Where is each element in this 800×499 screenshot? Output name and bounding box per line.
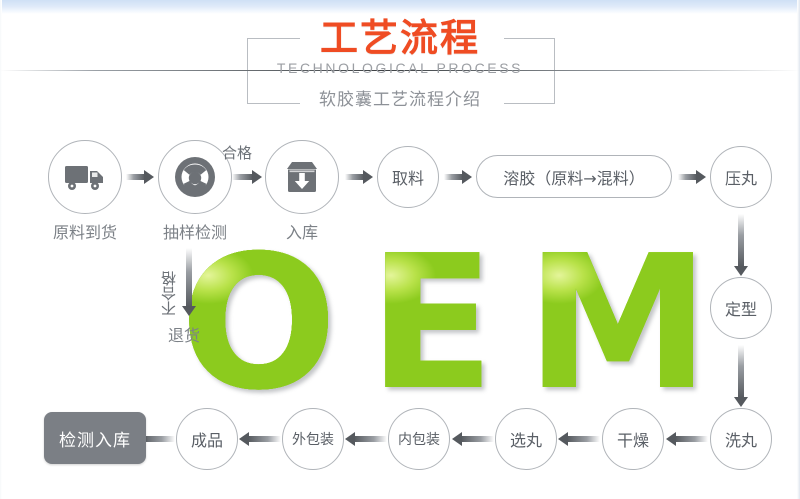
node-gel-melting[interactable]: 溶胶（原料→混料） <box>476 155 672 198</box>
node-finished-product[interactable]: 成品 <box>176 408 238 470</box>
node-sampling-inspection[interactable] <box>158 140 232 214</box>
arrow-shaping-to-washing <box>734 345 748 407</box>
oem-letter-m: M <box>526 238 710 408</box>
node-finished-product-label: 成品 <box>191 427 223 451</box>
arrow-warehouse-to-take-material <box>345 170 373 184</box>
arrow-inner-to-outer-packaging <box>345 432 387 446</box>
node-pill-washing[interactable]: 洗丸 <box>710 408 772 470</box>
node-drying-label: 干燥 <box>617 427 649 451</box>
node-return-goods[interactable]: 退货 <box>148 322 220 346</box>
arrow-inspection-to-warehouse <box>232 170 262 184</box>
arrow-inspection-to-return <box>182 248 196 316</box>
node-pill-pressing[interactable]: 压丸 <box>710 146 772 208</box>
process-flow-poster: 工艺流程 TECHNOLOGICAL PROCESS 软胶囊工艺流程介绍 O E… <box>0 0 800 499</box>
caption-warehouse-in: 入库 <box>250 219 354 243</box>
arrow-gel-to-pill-pressing <box>678 170 706 184</box>
node-pill-pressing-label: 压丸 <box>725 165 757 189</box>
node-outer-packaging-label: 外包装 <box>292 429 334 449</box>
caption-sampling-inspection: 抽样检测 <box>143 219 247 243</box>
arrow-pill-pressing-to-shaping <box>734 214 748 276</box>
node-outer-packaging[interactable]: 外包装 <box>282 408 344 470</box>
node-inspect-and-store[interactable]: 检测入库 <box>44 412 146 464</box>
edge-label-fail: 不合格 <box>158 252 179 316</box>
node-gel-melting-label: 溶胶（原料→混料） <box>503 165 644 189</box>
node-pill-selection[interactable]: 选丸 <box>495 408 557 470</box>
arrow-washing-to-drying <box>666 432 708 446</box>
node-warehouse-in[interactable] <box>265 140 339 214</box>
page-title: 工艺流程 <box>0 18 800 58</box>
inspection-icon <box>172 154 218 200</box>
node-raw-material-arrival[interactable] <box>48 140 122 214</box>
page-subtitle: 软胶囊工艺流程介绍 <box>0 85 800 110</box>
caption-raw-material-arrival: 原料到货 <box>33 219 137 243</box>
node-shaping-label: 定型 <box>725 296 757 320</box>
arrow-take-material-to-gel <box>444 170 472 184</box>
node-pill-washing-label: 洗丸 <box>725 427 757 451</box>
truck-icon <box>64 162 106 192</box>
node-inner-packaging-label: 内包装 <box>398 429 440 449</box>
node-shaping[interactable]: 定型 <box>710 277 772 339</box>
node-inner-packaging[interactable]: 内包装 <box>388 408 450 470</box>
oem-watermark: O E M <box>180 238 710 413</box>
edge-label-pass: 合格 <box>222 142 252 163</box>
inbox-arrow-down-icon <box>283 159 321 195</box>
node-take-material[interactable]: 取料 <box>377 146 439 208</box>
page-title-english: TECHNOLOGICAL PROCESS <box>0 60 800 76</box>
top-blue-band <box>0 0 800 14</box>
arrow-outer-packaging-to-finished <box>239 432 281 446</box>
arrow-arrival-to-inspection <box>126 170 154 184</box>
oem-letter-e: E <box>368 238 494 408</box>
node-drying[interactable]: 干燥 <box>602 408 664 470</box>
arrow-pill-selection-to-inner-packaging <box>452 432 494 446</box>
node-take-material-label: 取料 <box>392 165 424 189</box>
node-pill-selection-label: 选丸 <box>510 427 542 451</box>
arrow-drying-to-pill-selection <box>558 432 600 446</box>
node-inspect-and-store-label: 检测入库 <box>59 426 131 451</box>
